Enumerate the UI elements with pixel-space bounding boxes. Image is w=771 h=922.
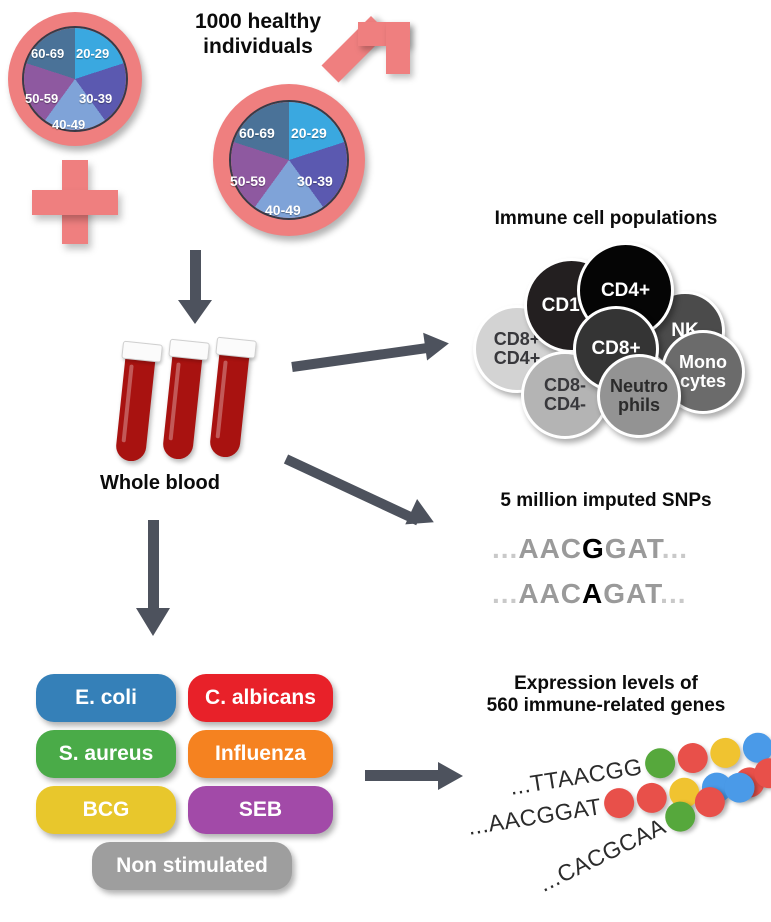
snp2-variant: A: [582, 578, 603, 609]
male-slice-label-30-39: 30-39: [297, 173, 333, 189]
female-slice-label-20-29: 20-29: [76, 46, 109, 61]
arrow-head: [178, 300, 212, 324]
stimulus-label: C. albicans: [205, 686, 316, 710]
snp-sequence-2: ...AACAGAT...: [492, 578, 687, 610]
immune-cells-title: Immune cell populations: [446, 208, 766, 230]
genes-title: Expression levels of 560 immune-related …: [446, 673, 766, 718]
genes-title-line1: Expression levels of: [446, 673, 766, 695]
gene-dot-green: [643, 746, 677, 780]
cell-label-line1: Neutro: [610, 377, 668, 396]
tube-body: [209, 348, 250, 459]
stimulus-bcg[interactable]: BCG: [36, 786, 176, 834]
stimulus-e-coli[interactable]: E. coli: [36, 674, 176, 722]
gene-dot-red: [675, 741, 709, 775]
stimulus-non-stimulated[interactable]: Non stimulated: [92, 842, 292, 890]
stimulus-label: Influenza: [215, 742, 306, 766]
stimulus-c-albicans[interactable]: C. albicans: [188, 674, 333, 722]
arrow-head: [405, 499, 439, 535]
stimulus-label: S. aureus: [59, 742, 154, 766]
arrow-shaft: [190, 250, 201, 305]
cohort-title: 1000 healthy individuals: [158, 10, 358, 60]
gene-strand-sequence: ...AACGGAT: [466, 793, 603, 841]
whole-blood-label: Whole blood: [60, 472, 260, 495]
snp1-suffix: ...: [662, 533, 688, 564]
stimulus-label: SEB: [239, 798, 282, 822]
stimulus-s-aureus[interactable]: S. aureus: [36, 730, 176, 778]
female-slice-label-30-39: 30-39: [79, 91, 112, 106]
stimulus-label: E. coli: [75, 686, 137, 710]
tube-body: [162, 350, 203, 461]
arrow-shaft: [148, 520, 159, 612]
stimulus-label: BCG: [83, 798, 130, 822]
stimulus-label: Non stimulated: [116, 854, 268, 878]
cell-label-line2: CD4-: [544, 395, 586, 414]
genes-title-line2: 560 immune-related genes: [446, 695, 766, 717]
male-slice-label-60-69: 60-69: [239, 125, 275, 141]
snps-title: 5 million imputed SNPs: [446, 490, 766, 512]
male-slice-label-50-59: 50-59: [230, 173, 266, 189]
female-slice-label-50-59: 50-59: [25, 91, 58, 106]
snp1-left: AAC: [518, 533, 582, 564]
tube-shine: [169, 362, 181, 440]
arrow-head: [438, 762, 463, 790]
snp1-variant: G: [582, 533, 605, 564]
female-slice-label-60-69: 60-69: [31, 46, 64, 61]
snp2-prefix: ...: [492, 578, 518, 609]
cell-neutrophils: Neutro phils: [597, 354, 681, 438]
tube-body: [115, 352, 156, 463]
male-pie-slices: [231, 102, 347, 218]
male-slice-label-20-29: 20-29: [291, 125, 327, 141]
arrow-head: [136, 608, 170, 636]
cell-label-line2: phils: [618, 396, 660, 415]
female-slice-label-40-49: 40-49: [52, 117, 85, 132]
snp2-right: GAT: [603, 578, 660, 609]
cell-label-line2: cytes: [680, 372, 726, 391]
cell-label-line1: Mono: [679, 353, 727, 372]
arrow-shaft: [291, 343, 429, 372]
female-stem-cross: [32, 190, 118, 215]
snp1-right: GAT: [605, 533, 662, 564]
diagram-canvas: 1000 healthy individuals 20-29 30-39 40-…: [0, 0, 771, 922]
snp1-prefix: ...: [492, 533, 518, 564]
cell-label-line1: CD8-: [544, 376, 586, 395]
cohort-title-line1: 1000 healthy: [158, 10, 358, 35]
cell-label: CD4+: [601, 281, 650, 301]
tube-shine: [216, 360, 228, 438]
stimulus-seb[interactable]: SEB: [188, 786, 333, 834]
gene-dot-red: [602, 786, 636, 820]
cohort-title-line2: individuals: [158, 35, 358, 60]
tube-shine: [122, 364, 134, 442]
gene-dot-yellow: [708, 736, 742, 770]
female-pie-slices: [24, 28, 126, 130]
male-arrow-head-poly2: [386, 22, 410, 74]
arrow-head: [423, 329, 451, 360]
stimulus-influenza[interactable]: Influenza: [188, 730, 333, 778]
snp2-left: AAC: [518, 578, 582, 609]
snp-sequence-1: ...AACGGAT...: [492, 533, 688, 565]
arrow-shaft: [365, 770, 441, 781]
arrow-shaft: [284, 454, 421, 525]
male-slice-label-40-49: 40-49: [265, 202, 301, 218]
snp2-suffix: ...: [660, 578, 686, 609]
